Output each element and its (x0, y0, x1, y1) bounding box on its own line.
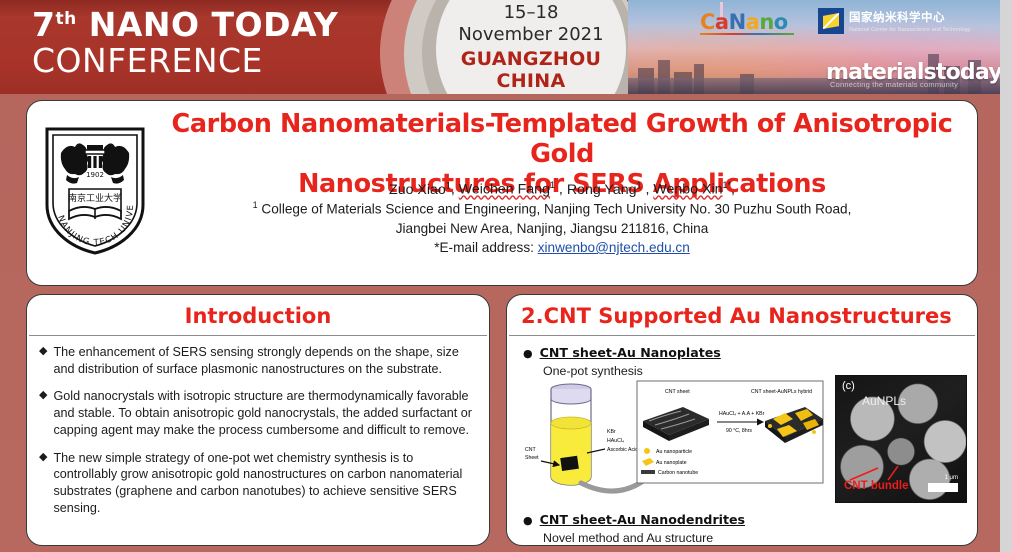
conference-name-line2: CONFERENCE (32, 44, 338, 78)
reagent-ascorbic-acid: Ascorbic Acid (607, 447, 638, 453)
email-link[interactable]: xinwenbo@njtech.edu.cn (538, 240, 690, 255)
list-item-text: Gold nanocrystals with isotropic structu… (53, 388, 475, 438)
list-item: ◆ The new simple strategy of one-pot wet… (39, 450, 475, 517)
scheme-right-label: CNT sheet-AuNPLs hybrid (751, 389, 812, 395)
conference-month: November 2021 (456, 24, 606, 45)
diamond-bullet-icon: ◆ (39, 344, 47, 377)
diamond-bullet-icon: ◆ (39, 450, 47, 517)
introduction-panel: Introduction ◆ The enhancement of SERS s… (26, 294, 490, 546)
conference-banner: 7th NANO TODAY CONFERENCE 15–18 November… (0, 0, 1000, 94)
poster-page: 7th NANO TODAY CONFERENCE 15–18 November… (0, 0, 1000, 552)
svg-text:90 °C, 8hrs: 90 °C, 8hrs (726, 428, 752, 434)
poster-title-line1: Carbon Nanomaterials-Templated Growth of… (153, 109, 971, 169)
vial-label-line1: CNT (525, 447, 536, 453)
list-item: ◆ The enhancement of SERS sensing strong… (39, 344, 475, 377)
affiliation-line2: Jiangbei New Area, Nanjing, Jiangsu 2118… (113, 219, 991, 238)
reaction-vial-icon (551, 384, 591, 485)
cnt-supported-au-nanostructures-panel: 2.CNT Supported Au Nanostructures ● CNT … (506, 294, 978, 546)
university-founding-year: 1902 (86, 171, 104, 179)
conference-city: GUANGZHOU (456, 48, 606, 70)
synthesis-scheme-figure: CNT Sheet KBr HAuCl₄ Ascorbic Acid (523, 377, 835, 507)
list-item-text: The enhancement of SERS sensing strongly… (53, 344, 475, 377)
vial-label-line2: Sheet (525, 455, 539, 461)
round-bullet-icon: ● (523, 514, 533, 527)
page-right-margin (1000, 0, 1012, 552)
conference-name-line1: NANO TODAY (89, 5, 339, 44)
email-line: *E-mail address: xinwenbo@njtech.edu.cn (153, 240, 971, 255)
diamond-bullet-icon: ◆ (39, 388, 47, 438)
legend-label-carbon-nanotube: Carbon nanotube (658, 470, 698, 476)
email-label: *E-mail address: (434, 240, 538, 255)
subsection-nanodendrites-subtitle: Novel method and Au structure (523, 531, 745, 545)
conference-country: CHINA (456, 70, 606, 92)
reagent-haucl4: HAuCl₄ (607, 438, 624, 444)
subsection-nanodendrites-title: CNT sheet-Au Nanodendrites (540, 512, 745, 527)
reaction-conditions-top: HAuCl₄ + A.A + KBr (719, 411, 765, 417)
sem-scale-text: 1 μm (945, 475, 958, 481)
round-bullet-icon: ● (523, 347, 533, 360)
affiliation: 1 College of Materials Science and Engin… (113, 199, 991, 238)
author-list: Zuo Xiao1, Weichen Fang1 , Rong Yang1 , … (153, 179, 971, 200)
introduction-heading: Introduction (27, 295, 489, 335)
conference-date-block: 15–18 November 2021 GUANGZHOU CHINA (456, 0, 606, 92)
affiliation-line1: 1 College of Materials Science and Engin… (113, 199, 991, 219)
reagent-kbr: KBr (607, 429, 616, 435)
cannano-logo-underline (700, 33, 794, 35)
nanoscience-center-name-cn: 国家纳米科学中心 (849, 9, 971, 25)
cannano-logo: CaNano (700, 10, 788, 34)
conference-dates: 15–18 (456, 2, 606, 23)
author-4: Wenbo Xin (653, 182, 722, 198)
reaction-box: CNT sheet CNT sheet-AuNPLs hybrid HAuCl₄… (637, 381, 823, 483)
legend-label-au-nanoparticle: Au nanoparticle (656, 449, 692, 455)
introduction-bullet-list: ◆ The enhancement of SERS sensing strong… (27, 336, 489, 517)
cnt-sheet-in-vial (560, 456, 579, 471)
author-3: Rong Yang1 (567, 182, 642, 198)
sem-micrograph-panel-c: (c) AuNPLs CNT bundle 1 μm (835, 375, 967, 503)
nanoscience-center-name-en: National Center for Nanoscience and Tech… (849, 27, 971, 33)
scheme-left-label: CNT sheet (665, 389, 690, 395)
materialstoday-tagline: Connecting the materials community (830, 80, 958, 89)
author-1: Zuo Xiao1 (389, 182, 451, 198)
subsection-nanodendrites-heading: ● CNT sheet-Au Nanodendrites (523, 512, 745, 527)
conference-title: 7th NANO TODAY CONFERENCE (32, 8, 338, 77)
cnt-panel-heading: 2.CNT Supported Au Nanostructures (507, 295, 977, 335)
subsection-nanoplates-title: CNT sheet-Au Nanoplates (540, 345, 721, 360)
subsection-nanoplates-heading: ● CNT sheet-Au Nanoplates (523, 345, 977, 360)
nanoscience-center-logo: 国家纳米科学中心 National Center for Nanoscience… (818, 8, 971, 34)
author-2: Weichen Fang (459, 182, 550, 198)
list-item-text: The new simple strategy of one-pot wet c… (53, 450, 475, 517)
conference-ordinal-suffix: th (55, 9, 76, 29)
legend-label-au-nanoplate: Au nanoplate (656, 460, 687, 466)
sem-label-cnt-bundle: CNT bundle (844, 480, 909, 492)
conference-ordinal: 7 (32, 5, 55, 44)
title-panel: 1902 南京工业大学 NANJING TECH UNIVERSITY Carb… (26, 100, 978, 286)
nanoscience-center-mark-icon (818, 8, 844, 34)
list-item: ◆ Gold nanocrystals with isotropic struc… (39, 388, 475, 438)
sem-scale-bar (928, 483, 958, 492)
subsection-nanoplates: ● CNT sheet-Au Nanoplates One-pot synthe… (507, 336, 977, 378)
subsection-nanodendrites: ● CNT sheet-Au Nanodendrites Novel metho… (507, 503, 745, 545)
